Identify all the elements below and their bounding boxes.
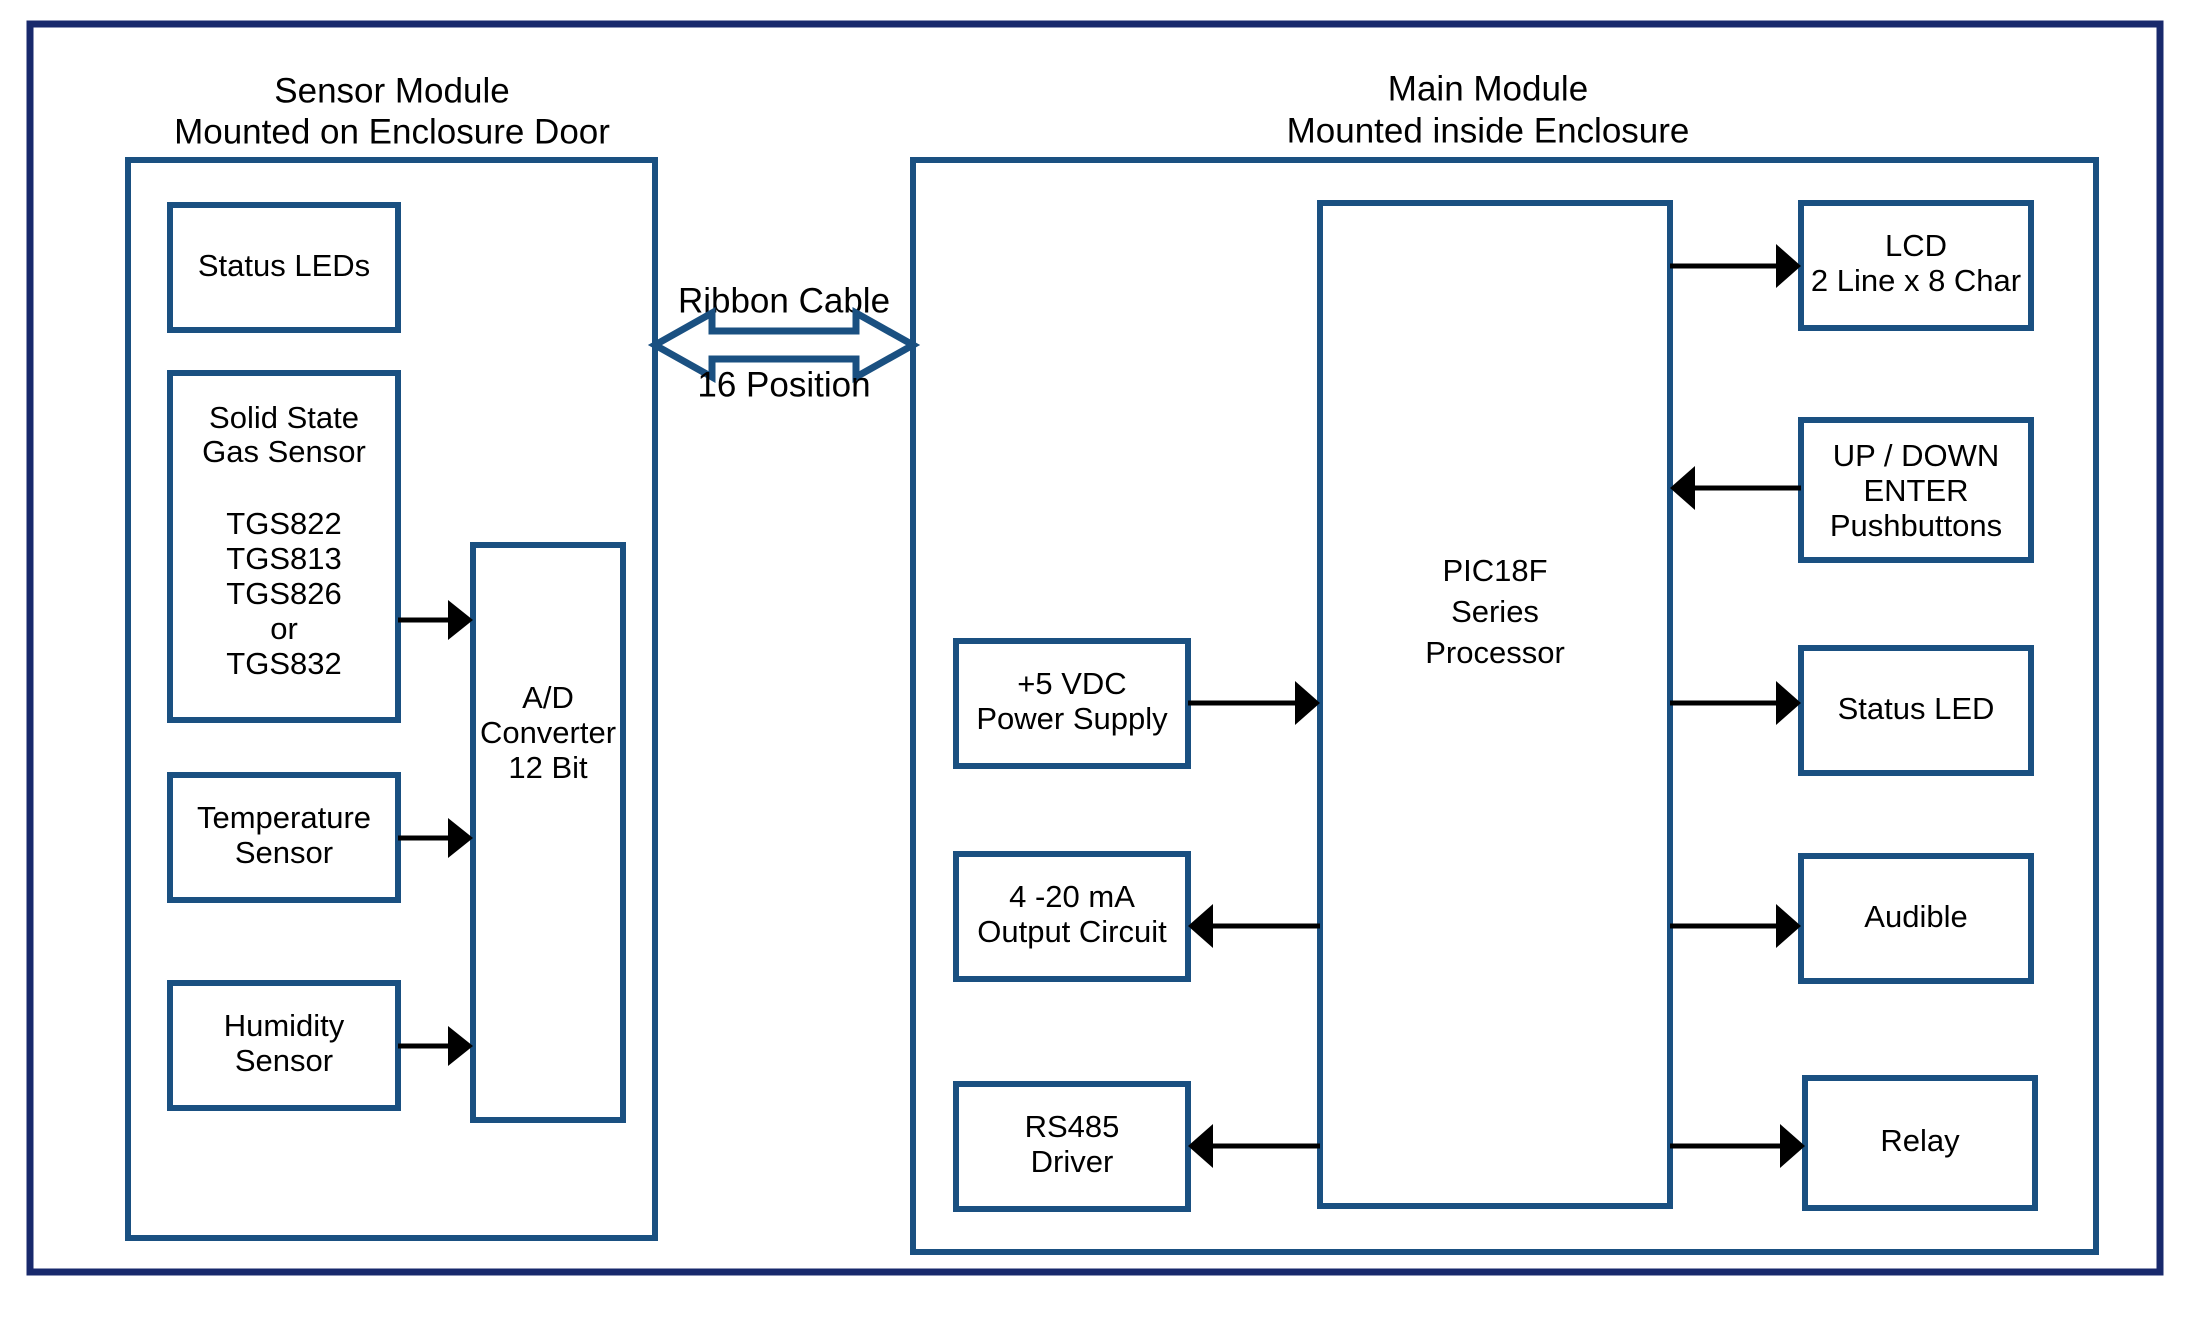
power-supply-label-line1: +5 VDC <box>1017 666 1126 701</box>
block-status-led: Status LED <box>1801 648 2031 773</box>
gas-sensor-label-line1: Solid State <box>209 400 359 435</box>
processor-label-line3: Processor <box>1425 635 1565 670</box>
block-diagram: Sensor Module Mounted on Enclosure Door … <box>0 0 2190 1329</box>
audible-label: Audible <box>1864 899 1967 934</box>
power-supply-label-line2: Power Supply <box>976 701 1168 736</box>
main-module-title-line1: Main Module <box>1388 69 1588 108</box>
ribbon-cable-interconnect: Ribbon Cable 16 Position <box>655 281 913 404</box>
lcd-label-line2: 2 Line x 8 Char <box>1811 263 2021 298</box>
block-temperature-sensor: Temperature Sensor <box>170 775 398 900</box>
block-audible: Audible <box>1801 856 2031 981</box>
adc-label-line3: 12 Bit <box>508 750 588 785</box>
gas-sensor-part-2: TGS813 <box>226 541 341 576</box>
main-module-group: Main Module Mounted inside Enclosure PIC… <box>913 69 2096 1252</box>
block-processor: PIC18F Series Processor <box>1320 203 1670 1206</box>
block-lcd: LCD 2 Line x 8 Char <box>1801 203 2031 328</box>
processor-box <box>1320 203 1670 1206</box>
connector-processor-to-relay <box>1670 1124 1805 1168</box>
gas-sensor-label-line2: Gas Sensor <box>202 434 366 469</box>
connector-processor-to-output-circuit <box>1188 904 1320 948</box>
block-gas-sensor: Solid State Gas Sensor TGS822 TGS813 TGS… <box>170 373 398 720</box>
temperature-sensor-label-line2: Sensor <box>235 835 333 870</box>
lcd-label-line1: LCD <box>1885 228 1947 263</box>
processor-label-line2: Series <box>1451 594 1539 629</box>
connector-temperature-to-adc <box>398 818 473 858</box>
block-pushbuttons: UP / DOWN ENTER Pushbuttons <box>1801 420 2031 560</box>
block-rs485-driver: RS485 Driver <box>956 1084 1188 1209</box>
block-status-leds: Status LEDs <box>170 205 398 330</box>
relay-label: Relay <box>1880 1123 1960 1158</box>
gas-sensor-part-1: TGS822 <box>226 506 341 541</box>
gas-sensor-part-or: or <box>270 611 298 646</box>
connector-processor-to-status-led <box>1670 681 1801 725</box>
gas-sensor-part-4: TGS832 <box>226 646 341 681</box>
pushbuttons-label-line3: Pushbuttons <box>1830 508 2002 543</box>
block-humidity-sensor: Humidity Sensor <box>170 983 398 1108</box>
connector-processor-to-rs485 <box>1188 1124 1320 1168</box>
output-circuit-label-line1: 4 -20 mA <box>1009 879 1135 914</box>
humidity-sensor-label-line2: Sensor <box>235 1043 333 1078</box>
gas-sensor-part-3: TGS826 <box>226 576 341 611</box>
status-leds-label: Status LEDs <box>198 248 370 283</box>
block-output-circuit: 4 -20 mA Output Circuit <box>956 854 1188 979</box>
connector-power-supply-to-processor <box>1188 681 1320 725</box>
main-module-title-line2: Mounted inside Enclosure <box>1287 111 1690 150</box>
processor-label-line1: PIC18F <box>1442 553 1547 588</box>
connector-gas-sensor-to-adc <box>398 600 473 640</box>
sensor-module-group: Sensor Module Mounted on Enclosure Door … <box>128 71 655 1238</box>
block-adc: A/D Converter 12 Bit <box>473 545 623 1120</box>
connector-processor-to-audible <box>1670 904 1801 948</box>
output-circuit-label-line2: Output Circuit <box>977 914 1167 949</box>
sensor-module-title-line2: Mounted on Enclosure Door <box>174 112 610 151</box>
adc-label-line2: Converter <box>480 715 616 750</box>
adc-label-line1: A/D <box>522 680 574 715</box>
block-power-supply: +5 VDC Power Supply <box>956 641 1188 766</box>
pushbuttons-label-line2: ENTER <box>1863 473 1968 508</box>
rs485-driver-label-line2: Driver <box>1031 1144 1114 1179</box>
temperature-sensor-label-line1: Temperature <box>197 800 371 835</box>
ribbon-cable-label-bottom: 16 Position <box>697 365 870 404</box>
block-relay: Relay <box>1805 1078 2035 1208</box>
connector-processor-to-lcd <box>1670 244 1801 288</box>
rs485-driver-label-line1: RS485 <box>1025 1109 1120 1144</box>
connector-pushbuttons-to-processor <box>1670 466 1801 510</box>
pushbuttons-label-line1: UP / DOWN <box>1833 438 2000 473</box>
humidity-sensor-label-line1: Humidity <box>224 1008 345 1043</box>
status-led-label: Status LED <box>1838 691 1995 726</box>
connector-humidity-to-adc <box>398 1026 473 1066</box>
adc-box <box>473 545 623 1120</box>
sensor-module-title-line1: Sensor Module <box>274 71 509 110</box>
